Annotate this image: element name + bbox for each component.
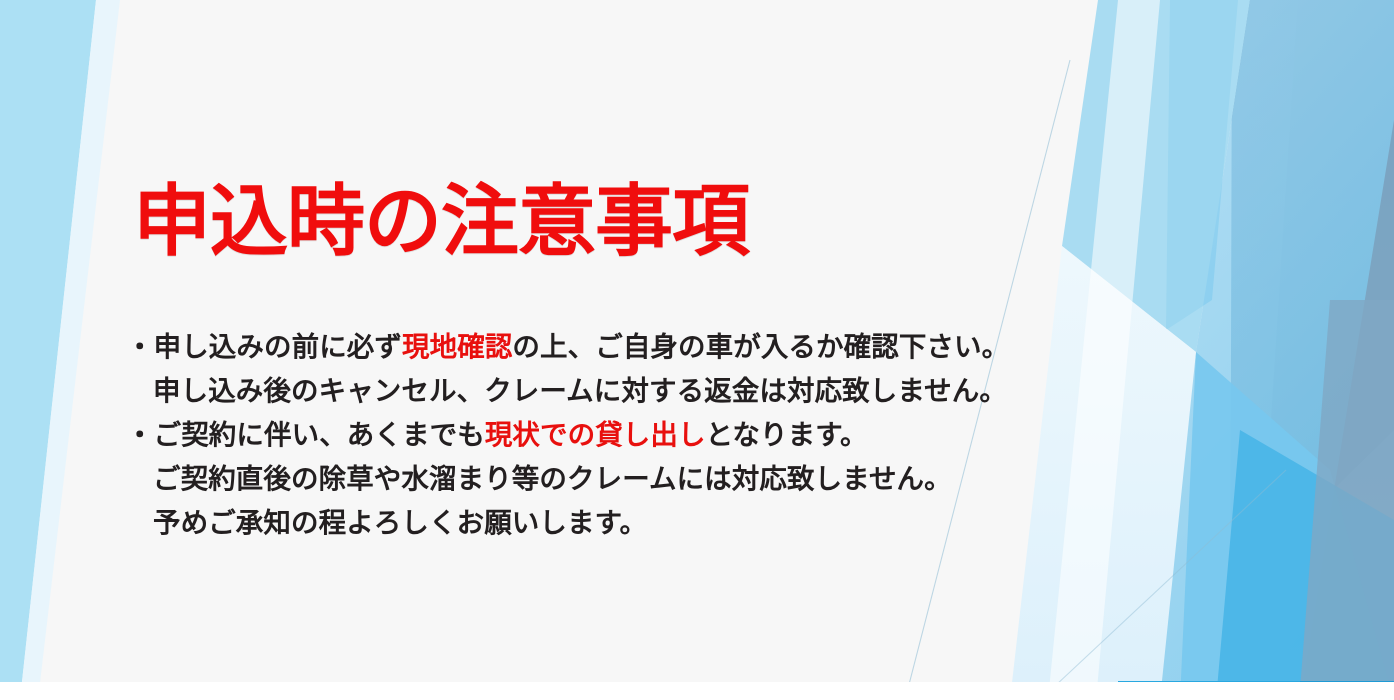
body-text: ご契約に伴い、あくまでも — [154, 419, 485, 451]
body-line: 申し込み後のキャンセル、クレームに対する返金は対応致しません。 — [126, 369, 1126, 413]
body-line: ・申し込みの前に必ず現地確認の上、ご自身の車が入るか確認下さい。 — [126, 325, 1126, 369]
body-text: 申し込みの前に必ず — [154, 331, 402, 363]
body-line: ・ご契約に伴い、あくまでも現状での貸し出しとなります。 — [126, 413, 1126, 457]
body-text: の上、ご自身の車が入るか確認下さい。 — [512, 331, 1009, 363]
bullet-marker: ・ — [126, 413, 154, 457]
body-text: 予めご承知の程よろしくお願いします。 — [153, 507, 647, 539]
body-text: となります。 — [706, 419, 868, 451]
slide-content: 申込時の注意事項 ・申し込みの前に必ず現地確認の上、ご自身の車が入るか確認下さい… — [0, 0, 1394, 700]
slide-body-list: ・申し込みの前に必ず現地確認の上、ご自身の車が入るか確認下さい。申し込み後のキャ… — [126, 325, 1126, 545]
highlighted-text: 現状での貸し出し — [485, 419, 706, 451]
body-line: 予めご承知の程よろしくお願いします。 — [126, 501, 1126, 545]
presentation-slide: 申込時の注意事項 ・申し込みの前に必ず現地確認の上、ご自身の車が入るか確認下さい… — [0, 0, 1394, 700]
highlighted-text: 現地確認 — [402, 331, 512, 363]
body-line: ご契約直後の除草や水溜まり等のクレームには対応致しません。 — [126, 457, 1126, 501]
slide-title: 申込時の注意事項 — [133, 174, 749, 270]
body-text: 申し込み後のキャンセル、クレームに対する返金は対応致しません。 — [153, 375, 1007, 407]
bullet-marker: ・ — [126, 325, 154, 369]
body-text: ご契約直後の除草や水溜まり等のクレームには対応致しません。 — [153, 463, 952, 495]
